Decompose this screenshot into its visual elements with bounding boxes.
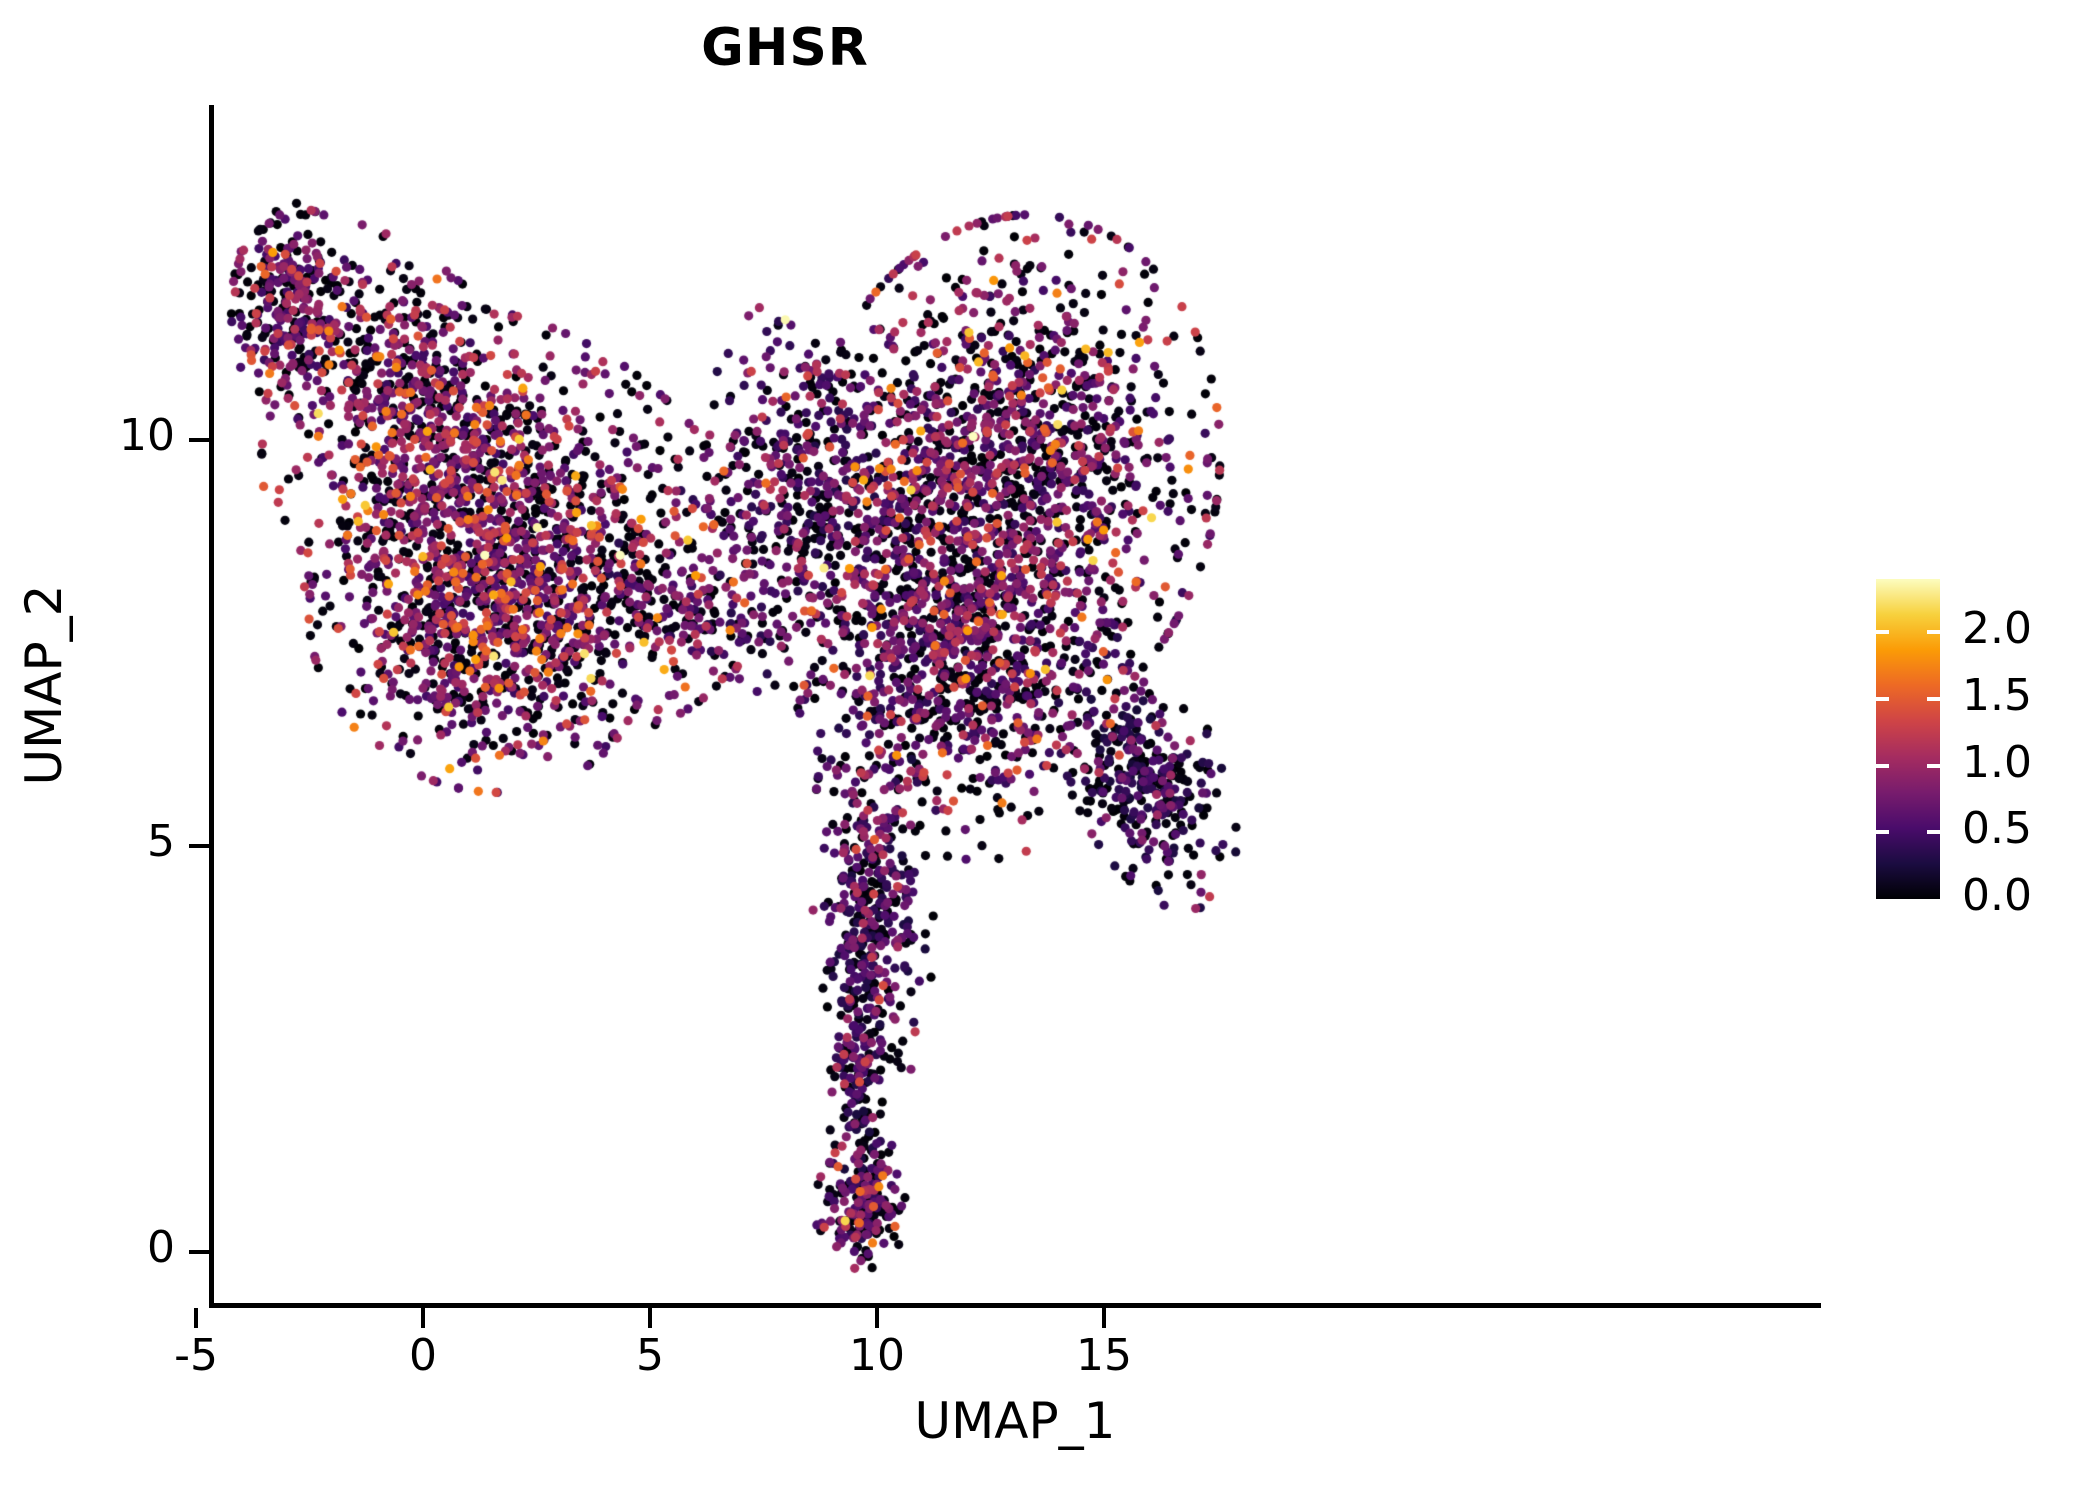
colorbar-tick-right-2 [1927,764,1940,768]
x-tick-label-2: 5 [550,1330,750,1381]
x-tick-1 [421,1308,425,1328]
page-title: GHSR [0,18,1570,78]
y-tick-0 [189,1250,209,1254]
x-tick-0 [194,1308,198,1328]
y-tick-2 [189,438,209,442]
colorbar-label-0: 2.0 [1962,603,2032,654]
colorbar-tick-right-1 [1927,697,1940,701]
figure-root: GHSR -5051015 0510 UMAP_1 UMAP_2 2.01.51… [0,0,2100,1500]
scatter-plot-canvas [209,105,1821,1305]
colorbar-tick-left-0 [1876,630,1889,634]
colorbar-label-4: 0.0 [1962,870,2032,921]
y-axis-label-wrapper: UMAP_2 [14,335,74,1035]
y-axis-label: UMAP_2 [15,585,73,786]
colorbar-label-1: 1.5 [1962,670,2032,721]
y-tick-1 [189,844,209,848]
x-tick-3 [875,1308,879,1328]
x-tick-label-1: 0 [323,1330,523,1381]
x-tick-2 [648,1308,652,1328]
y-axis-line [209,105,214,1308]
colorbar-tick-left-3 [1876,830,1889,834]
x-axis-label: UMAP_1 [209,1392,1821,1450]
x-tick-label-4: 15 [1004,1330,1204,1381]
colorbar-tick-left-1 [1876,697,1889,701]
colorbar-label-3: 0.5 [1962,803,2032,854]
x-tick-label-0: -5 [96,1330,296,1381]
colorbar-tick-right-3 [1927,830,1940,834]
x-axis-line [209,1303,1821,1308]
colorbar [1876,579,1940,899]
y-tick-label-0: 0 [15,1222,175,1273]
x-tick-4 [1102,1308,1106,1328]
colorbar-label-2: 1.0 [1962,737,2032,788]
colorbar-tick-right-0 [1927,630,1940,634]
x-tick-label-3: 10 [777,1330,977,1381]
colorbar-tick-left-2 [1876,764,1889,768]
colorbar-gradient [1876,579,1940,899]
